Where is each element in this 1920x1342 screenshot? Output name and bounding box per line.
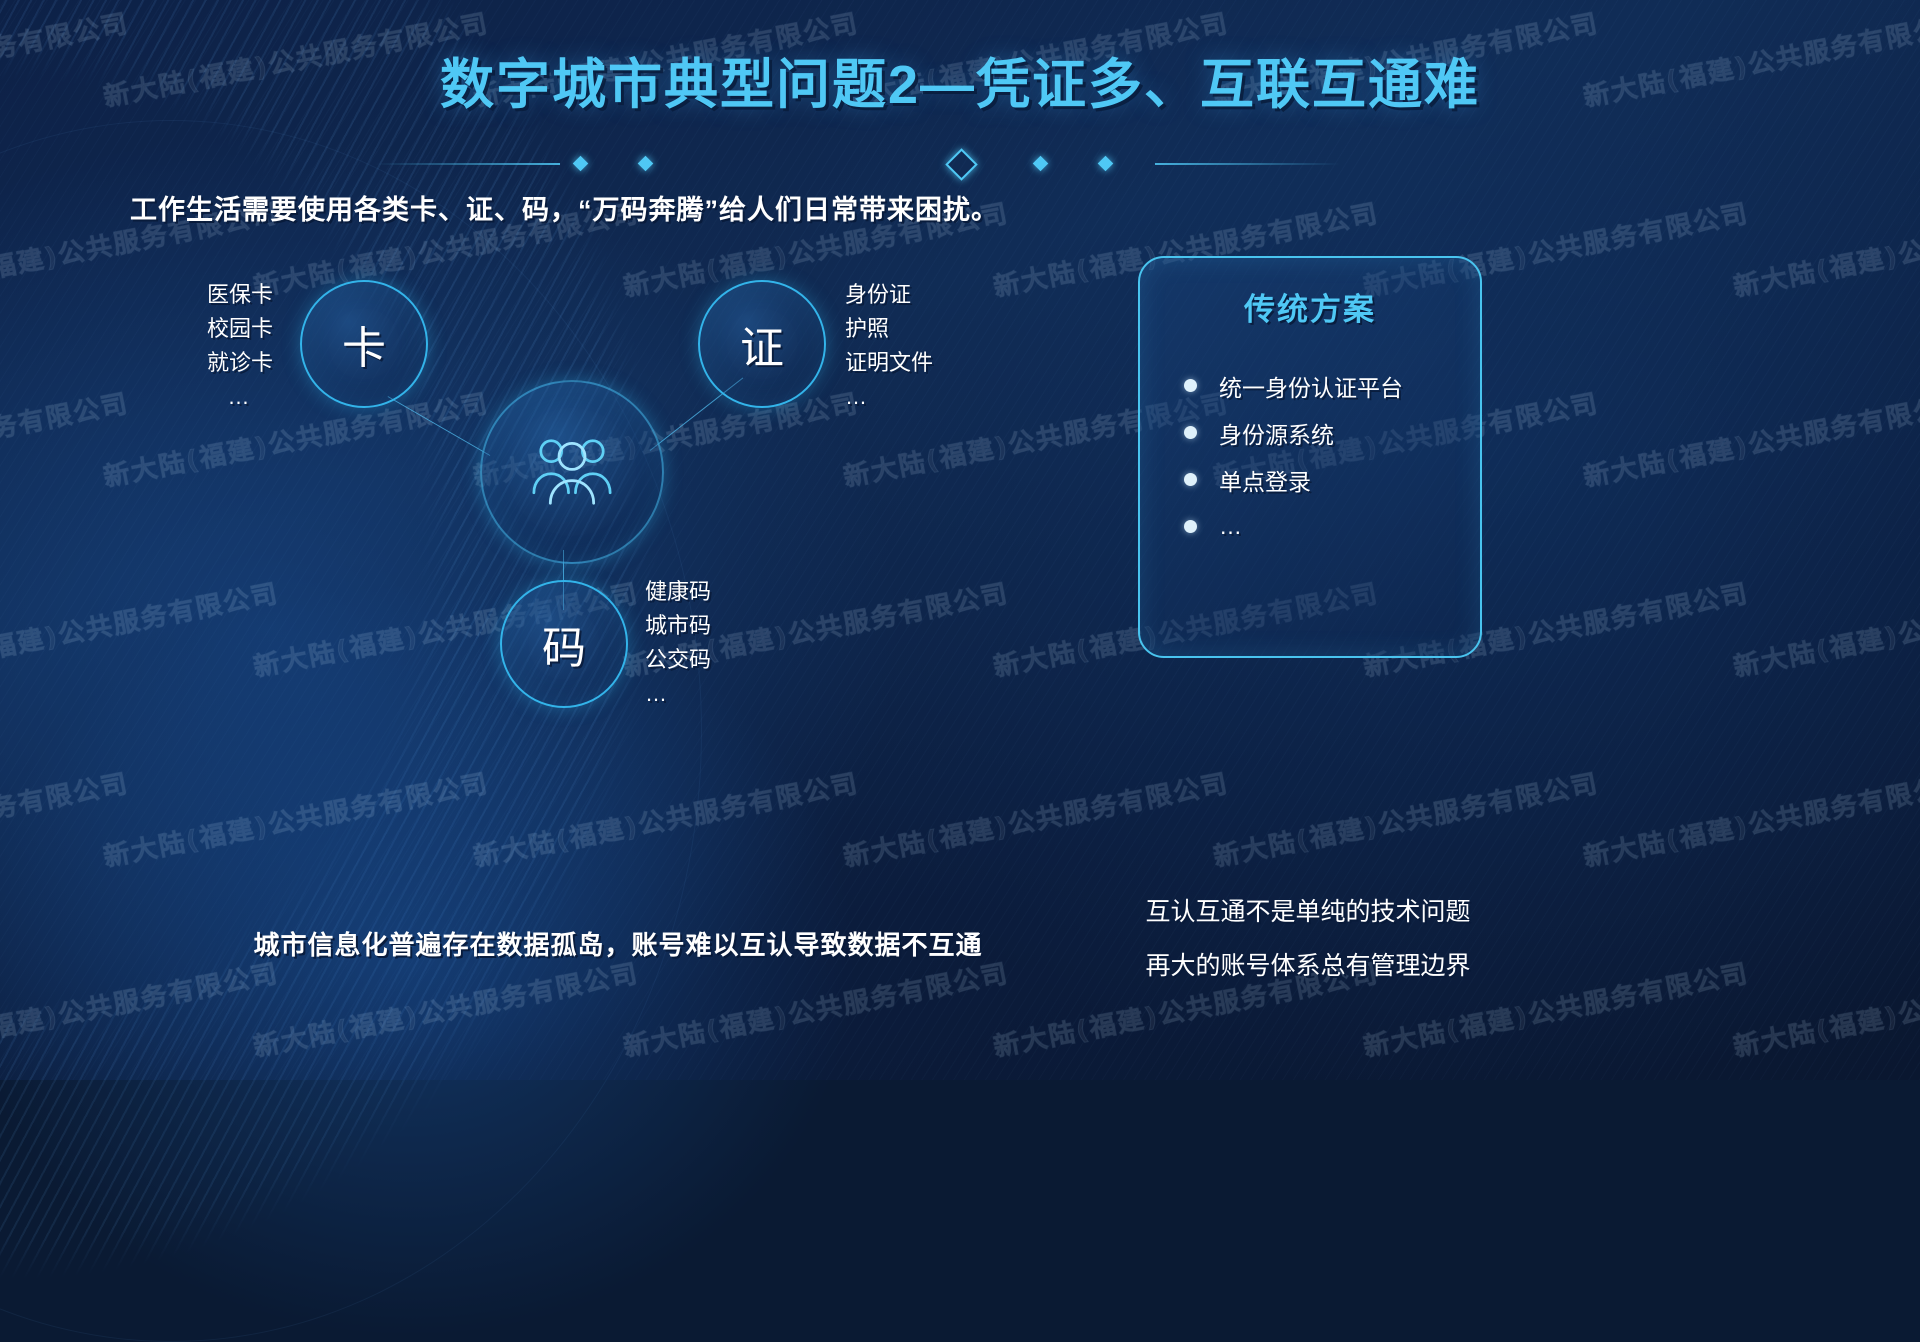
node-code[interactable]: 码 (500, 580, 628, 708)
people-group-icon (520, 427, 624, 517)
node-certificate-items: 身份证 护照 证明文件 … (845, 278, 933, 414)
divider-line-left (375, 163, 560, 165)
node-card-item-1: 医保卡 (195, 278, 285, 312)
node-card-item-3: 就诊卡 (195, 346, 285, 380)
node-center-people[interactable] (480, 380, 664, 564)
divider-line-right (1155, 163, 1340, 165)
panel-item-label: 单点登录 (1219, 463, 1311, 497)
node-code-item-3: 公交码 (645, 643, 711, 677)
panel-item-label: 统一身份认证平台 (1219, 369, 1403, 403)
node-certificate-item-more: … (845, 380, 933, 414)
divider-diamond-2 (638, 156, 654, 172)
node-certificate-item-3: 证明文件 (845, 346, 933, 380)
panel-list: 统一身份认证平台 身份源系统 单点登录 … (1184, 362, 1460, 550)
panel-item-label: … (1219, 513, 1242, 540)
title-divider (0, 152, 1920, 176)
bullet-icon (1184, 520, 1197, 533)
list-item[interactable]: … (1184, 503, 1460, 550)
node-card-item-2: 校园卡 (195, 312, 285, 346)
node-card-label: 卡 (342, 312, 386, 376)
node-code-item-2: 城市码 (645, 609, 711, 643)
node-code-items: 健康码 城市码 公交码 … (645, 575, 711, 711)
edge-center-to-card (388, 396, 491, 456)
node-certificate-item-1: 身份证 (845, 278, 933, 312)
divider-diamond-3 (1033, 156, 1049, 172)
node-card-item-more: … (195, 380, 285, 414)
list-item[interactable]: 统一身份认证平台 (1184, 362, 1460, 409)
panel-item-label: 身份源系统 (1219, 416, 1334, 450)
node-card-items: 医保卡 校园卡 就诊卡 … (195, 278, 285, 414)
bullet-icon (1184, 473, 1197, 486)
node-code-item-1: 健康码 (645, 575, 711, 609)
cards-certs-codes-diagram: 卡 医保卡 校园卡 就诊卡 … 证 身份证 护照 证明文件 … 码 健康码 城市… (0, 250, 1060, 770)
divider-diamond-center (945, 148, 978, 181)
footer-caption-right: 互认互通不是单纯的技术问题 再大的账号体系总有管理边界 (1118, 885, 1498, 993)
list-item[interactable]: 身份源系统 (1184, 409, 1460, 456)
node-certificate-item-2: 护照 (845, 312, 933, 346)
node-card[interactable]: 卡 (300, 280, 428, 408)
node-code-label: 码 (542, 612, 586, 676)
lead-paragraph: 工作生活需要使用各类卡、证、码，“万码奔腾”给人们日常带来困扰。 (130, 188, 999, 227)
footer-caption-left: 城市信息化普遍存在数据孤岛，账号难以互认导致数据不互通 (198, 925, 1038, 962)
page-title: 数字城市典型问题2—凭证多、互联互通难 (0, 40, 1920, 119)
node-certificate-label: 证 (740, 312, 784, 376)
panel-title: 传统方案 (1140, 284, 1480, 329)
divider-diamond-1 (573, 156, 589, 172)
traditional-solution-panel: 传统方案 统一身份认证平台 身份源系统 单点登录 … (1138, 256, 1482, 658)
footer-right-line-2: 再大的账号体系总有管理边界 (1118, 939, 1498, 993)
divider-diamond-4 (1098, 156, 1114, 172)
node-code-item-more: … (645, 677, 711, 711)
bullet-icon (1184, 426, 1197, 439)
bullet-icon (1184, 379, 1197, 392)
footer-right-line-1: 互认互通不是单纯的技术问题 (1118, 885, 1498, 939)
node-certificate[interactable]: 证 (698, 280, 826, 408)
list-item[interactable]: 单点登录 (1184, 456, 1460, 503)
